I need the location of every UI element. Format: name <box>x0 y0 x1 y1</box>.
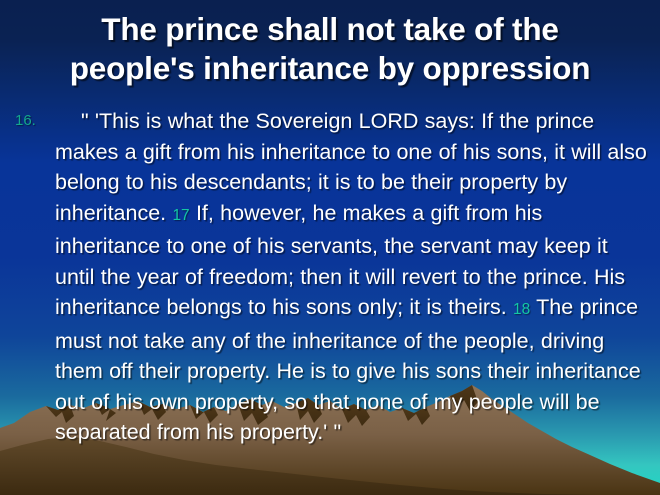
title-line-1: The prince shall not take of the <box>8 10 652 49</box>
verse-marker: 16. <box>13 106 55 137</box>
slide-title: The prince shall not take of the people'… <box>0 10 660 88</box>
scripture-paragraph: " 'This is what the Sovereign LORD says:… <box>55 106 653 448</box>
verse-number: 18 <box>513 301 530 318</box>
verse-number: 17 <box>172 207 189 224</box>
title-line-2: people's inheritance by oppression <box>8 49 652 88</box>
presentation-slide: The prince shall not take of the people'… <box>0 0 660 495</box>
slide-body: 16. " 'This is what the Sovereign LORD s… <box>13 106 653 448</box>
